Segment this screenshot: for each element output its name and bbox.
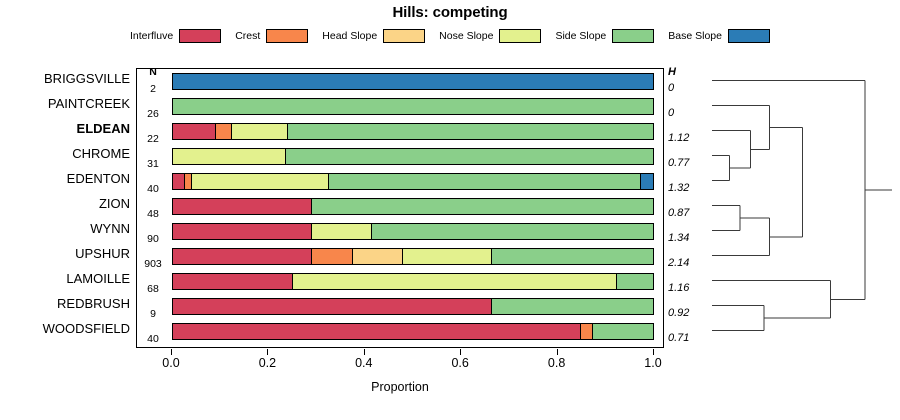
n-value: 9 xyxy=(138,308,168,320)
site-label[interactable]: BRIGGSVILLE xyxy=(0,71,130,86)
axis-tick xyxy=(653,349,654,355)
axis-tick-label: 0.6 xyxy=(440,356,480,370)
axis-tick-label: 0.4 xyxy=(344,356,384,370)
bar-segment[interactable] xyxy=(312,224,372,239)
n-value: 48 xyxy=(138,208,168,220)
legend-item: Crest xyxy=(235,29,308,43)
legend-item: Base Slope xyxy=(668,29,770,43)
bar-segment[interactable] xyxy=(403,249,492,264)
chart-title: Hills: competing xyxy=(0,4,900,21)
legend-swatch xyxy=(499,29,541,43)
bar-segment[interactable] xyxy=(173,299,492,314)
x-axis-title: Proportion xyxy=(136,380,664,394)
site-label[interactable]: LAMOILLE xyxy=(0,271,130,286)
n-column-header: N xyxy=(138,66,168,78)
chart-row xyxy=(137,273,665,298)
site-label[interactable]: UPSHUR xyxy=(0,246,130,261)
legend-label: Head Slope xyxy=(322,30,377,42)
legend-swatch xyxy=(383,29,425,43)
stacked-bar[interactable] xyxy=(172,298,654,315)
legend-item: Side Slope xyxy=(555,29,654,43)
legend-label: Interfluve xyxy=(130,30,173,42)
legend-label: Crest xyxy=(235,30,260,42)
stacked-bar[interactable] xyxy=(172,73,654,90)
bar-segment[interactable] xyxy=(641,174,653,189)
bar-segment[interactable] xyxy=(185,174,192,189)
legend-swatch xyxy=(179,29,221,43)
bar-segment[interactable] xyxy=(372,224,653,239)
chart-row xyxy=(137,248,665,273)
n-value: 68 xyxy=(138,283,168,295)
n-value: 40 xyxy=(138,333,168,345)
n-value: 90 xyxy=(138,233,168,245)
legend-swatch xyxy=(728,29,770,43)
bar-segment[interactable] xyxy=(216,124,231,139)
axis-tick-label: 0.0 xyxy=(151,356,191,370)
bar-segment[interactable] xyxy=(312,249,353,264)
chart-row xyxy=(137,123,665,148)
n-value: 903 xyxy=(138,258,168,270)
n-value: 26 xyxy=(138,108,168,120)
n-value: 22 xyxy=(138,133,168,145)
bar-segment[interactable] xyxy=(329,174,641,189)
bar-segment[interactable] xyxy=(173,99,653,114)
site-label[interactable]: ZION xyxy=(0,196,130,211)
stacked-bar[interactable] xyxy=(172,323,654,340)
bar-segment[interactable] xyxy=(312,199,653,214)
stacked-bar[interactable] xyxy=(172,273,654,290)
bar-segment[interactable] xyxy=(232,124,289,139)
legend-swatch xyxy=(266,29,308,43)
bar-segment[interactable] xyxy=(173,249,312,264)
bar-segment[interactable] xyxy=(173,174,185,189)
stacked-bar[interactable] xyxy=(172,148,654,165)
chart-row xyxy=(137,173,665,198)
bar-segment[interactable] xyxy=(293,274,617,289)
axis-tick xyxy=(460,349,461,355)
legend-item: Head Slope xyxy=(322,29,425,43)
chart-row xyxy=(137,98,665,123)
axis-tick-label: 0.2 xyxy=(247,356,287,370)
chart-row xyxy=(137,298,665,323)
site-label[interactable]: EDENTON xyxy=(0,171,130,186)
bar-segment[interactable] xyxy=(192,174,329,189)
site-label[interactable]: ELDEAN xyxy=(0,121,130,136)
chart-row xyxy=(137,223,665,248)
axis-tick xyxy=(364,349,365,355)
bar-segment[interactable] xyxy=(288,124,653,139)
site-label[interactable]: CHROME xyxy=(0,146,130,161)
site-label[interactable]: WOODSFIELD xyxy=(0,321,130,336)
chart-row xyxy=(137,73,665,98)
legend-item: Nose Slope xyxy=(439,29,541,43)
bar-segment[interactable] xyxy=(173,149,286,164)
x-axis: 0.00.20.40.60.81.0 xyxy=(136,349,664,379)
chart-legend: InterfluveCrestHead SlopeNose SlopeSide … xyxy=(0,26,900,46)
stacked-bar[interactable] xyxy=(172,123,654,140)
axis-tick-label: 0.8 xyxy=(537,356,577,370)
bar-segment[interactable] xyxy=(173,74,653,89)
stacked-bar[interactable] xyxy=(172,98,654,115)
stacked-bar[interactable] xyxy=(172,223,654,240)
bar-segment[interactable] xyxy=(353,249,403,264)
axis-tick-label: 1.0 xyxy=(633,356,673,370)
bar-segment[interactable] xyxy=(286,149,653,164)
site-label[interactable]: REDBRUSH xyxy=(0,296,130,311)
bar-segment[interactable] xyxy=(617,274,653,289)
axis-tick xyxy=(557,349,558,355)
bar-segment[interactable] xyxy=(593,324,653,339)
stacked-bar[interactable] xyxy=(172,198,654,215)
dendrogram xyxy=(686,60,900,360)
legend-swatch xyxy=(612,29,654,43)
site-label[interactable]: WYNN xyxy=(0,221,130,236)
legend-item: Interfluve xyxy=(130,29,221,43)
chart-row xyxy=(137,323,665,348)
site-label[interactable]: PAINTCREEK xyxy=(0,96,130,111)
chart-row xyxy=(137,198,665,223)
legend-label: Base Slope xyxy=(668,30,722,42)
n-value: 40 xyxy=(138,183,168,195)
stacked-bar[interactable] xyxy=(172,248,654,265)
bar-segment[interactable] xyxy=(173,224,312,239)
plot-panel xyxy=(136,68,664,348)
stacked-bar[interactable] xyxy=(172,173,654,190)
bar-segment[interactable] xyxy=(173,324,581,339)
chart-root: Hills: competing InterfluveCrestHead Slo… xyxy=(0,0,900,420)
legend-label: Side Slope xyxy=(555,30,606,42)
bar-segment[interactable] xyxy=(492,249,653,264)
bar-segment[interactable] xyxy=(173,274,293,289)
axis-tick xyxy=(171,349,172,355)
n-value: 2 xyxy=(138,83,168,95)
bar-segment[interactable] xyxy=(173,124,216,139)
bar-rows xyxy=(137,69,665,349)
chart-row xyxy=(137,148,665,173)
axis-tick xyxy=(267,349,268,355)
bar-segment[interactable] xyxy=(581,324,593,339)
bar-segment[interactable] xyxy=(492,299,653,314)
n-value: 31 xyxy=(138,158,168,170)
legend-label: Nose Slope xyxy=(439,30,493,42)
bar-segment[interactable] xyxy=(173,199,312,214)
